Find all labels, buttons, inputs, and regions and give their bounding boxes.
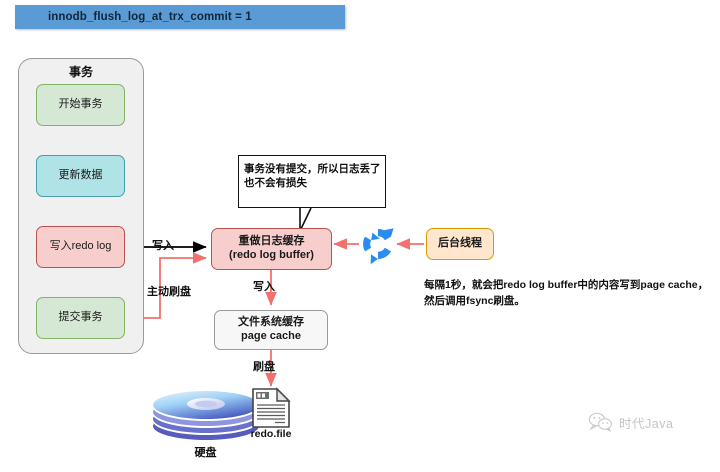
node-label: 更新数据 xyxy=(59,169,103,183)
node-redo-log-buffer[interactable]: 重做日志缓存 (redo log buffer) xyxy=(211,228,332,270)
node-label: 提交事务 xyxy=(59,311,103,325)
redo-file-label: redo.file xyxy=(240,428,302,440)
node-background-thread[interactable]: 后台线程 xyxy=(426,228,494,260)
config-banner: innodb_flush_log_at_trx_commit = 1 xyxy=(15,5,345,29)
edge-label-active-flush: 主动刷盘 xyxy=(147,283,191,299)
config-banner-text: innodb_flush_log_at_trx_commit = 1 xyxy=(15,11,252,23)
node-begin-transaction[interactable]: 开始事务 xyxy=(36,84,125,126)
hard-disk-label: 硬盘 xyxy=(168,444,243,460)
watermark-text: 时代Java xyxy=(619,413,673,432)
node-label-line2: page cache xyxy=(241,330,301,344)
edge-label-write-to-buffer: 写入 xyxy=(152,237,174,253)
wechat-icon xyxy=(588,412,614,432)
node-page-cache[interactable]: 文件系统缓存 page cache xyxy=(214,310,328,350)
node-commit-transaction[interactable]: 提交事务 xyxy=(36,297,125,339)
edge-label-write-to-cache: 写入 xyxy=(253,278,275,294)
node-label: 写入redo log xyxy=(50,240,112,254)
callout-line-2: 也不会有损失 xyxy=(244,176,382,190)
watermark: 时代Java xyxy=(588,412,673,432)
node-label-line2: (redo log buffer) xyxy=(229,249,314,263)
node-update-data[interactable]: 更新数据 xyxy=(36,155,125,197)
callout-text: 事务没有提交，所以日志丢了 也不会有损失 xyxy=(244,162,382,191)
node-label: 后台线程 xyxy=(438,237,482,251)
node-label: 开始事务 xyxy=(59,98,103,112)
node-write-redo-log[interactable]: 写入redo log xyxy=(36,226,125,268)
redo-file-icon xyxy=(249,387,293,429)
background-thread-note: 每隔1秒，就会把redo log buffer中的内容写到page cache，… xyxy=(424,278,716,310)
transaction-title: 事务 xyxy=(18,63,144,80)
note-line-2: 然后调用fsync刷盘。 xyxy=(424,294,716,310)
edge-label-flush-to-disk: 刷盘 xyxy=(253,358,275,374)
node-label-line1: 文件系统缓存 xyxy=(238,316,304,330)
diagram-canvas: innodb_flush_log_at_trx_commit = 1 事务 开始… xyxy=(0,0,720,472)
callout-line-1: 事务没有提交，所以日志丢了 xyxy=(244,162,382,176)
node-label-line1: 重做日志缓存 xyxy=(239,235,305,249)
cycle-refresh-icon xyxy=(358,224,398,264)
note-line-1: 每隔1秒，就会把redo log buffer中的内容写到page cache， xyxy=(424,278,716,294)
